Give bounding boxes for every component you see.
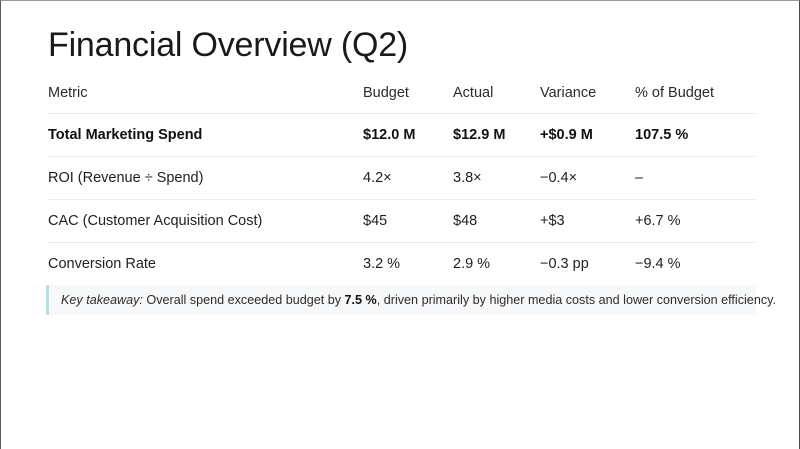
- cell-pct: +6.7 %: [635, 200, 756, 243]
- key-takeaway-after: , driven primarily by higher media costs…: [377, 293, 776, 307]
- table-header-row: Metric Budget Actual Variance % of Budge…: [48, 85, 756, 114]
- column-header-budget: Budget: [363, 85, 453, 114]
- cell-pct: 107.5 %: [635, 114, 756, 157]
- cell-actual: $48: [453, 200, 540, 243]
- cell-budget: 3.2 %: [363, 243, 453, 286]
- key-takeaway-text: Key takeaway: Overall spend exceeded bud…: [49, 292, 776, 308]
- cell-metric: Total Marketing Spend: [48, 114, 363, 157]
- key-takeaway-before: Overall spend exceeded budget by: [143, 293, 345, 307]
- column-header-metric: Metric: [48, 85, 363, 114]
- cell-budget: $12.0 M: [363, 114, 453, 157]
- key-takeaway-label: Key takeaway:: [61, 293, 143, 307]
- cell-actual: $12.9 M: [453, 114, 540, 157]
- cell-variance: −0.3 pp: [540, 243, 635, 286]
- cell-actual: 3.8×: [453, 157, 540, 200]
- column-header-actual: Actual: [453, 85, 540, 114]
- page-title: Financial Overview (Q2): [48, 24, 408, 66]
- column-header-pct-of-budget: % of Budget: [635, 85, 756, 114]
- key-takeaway-callout: Key takeaway: Overall spend exceeded bud…: [46, 285, 756, 315]
- key-takeaway-highlight: 7.5 %: [345, 293, 377, 307]
- table-row: ROI (Revenue ÷ Spend) 4.2× 3.8× −0.4× –: [48, 157, 756, 200]
- cell-metric: Conversion Rate: [48, 243, 363, 286]
- cell-metric: ROI (Revenue ÷ Spend): [48, 157, 363, 200]
- cell-variance: +$0.9 M: [540, 114, 635, 157]
- cell-variance: −0.4×: [540, 157, 635, 200]
- column-header-variance: Variance: [540, 85, 635, 114]
- table-row: Conversion Rate 3.2 % 2.9 % −0.3 pp −9.4…: [48, 243, 756, 286]
- cell-pct: −9.4 %: [635, 243, 756, 286]
- cell-budget: $45: [363, 200, 453, 243]
- cell-metric: CAC (Customer Acquisition Cost): [48, 200, 363, 243]
- slide-canvas: Financial Overview (Q2) Metric Budget Ac…: [0, 0, 800, 449]
- table-row: CAC (Customer Acquisition Cost) $45 $48 …: [48, 200, 756, 243]
- cell-variance: +$3: [540, 200, 635, 243]
- financial-metrics-table: Metric Budget Actual Variance % of Budge…: [48, 85, 756, 286]
- cell-budget: 4.2×: [363, 157, 453, 200]
- cell-pct: –: [635, 157, 756, 200]
- cell-actual: 2.9 %: [453, 243, 540, 286]
- table-row: Total Marketing Spend $12.0 M $12.9 M +$…: [48, 114, 756, 157]
